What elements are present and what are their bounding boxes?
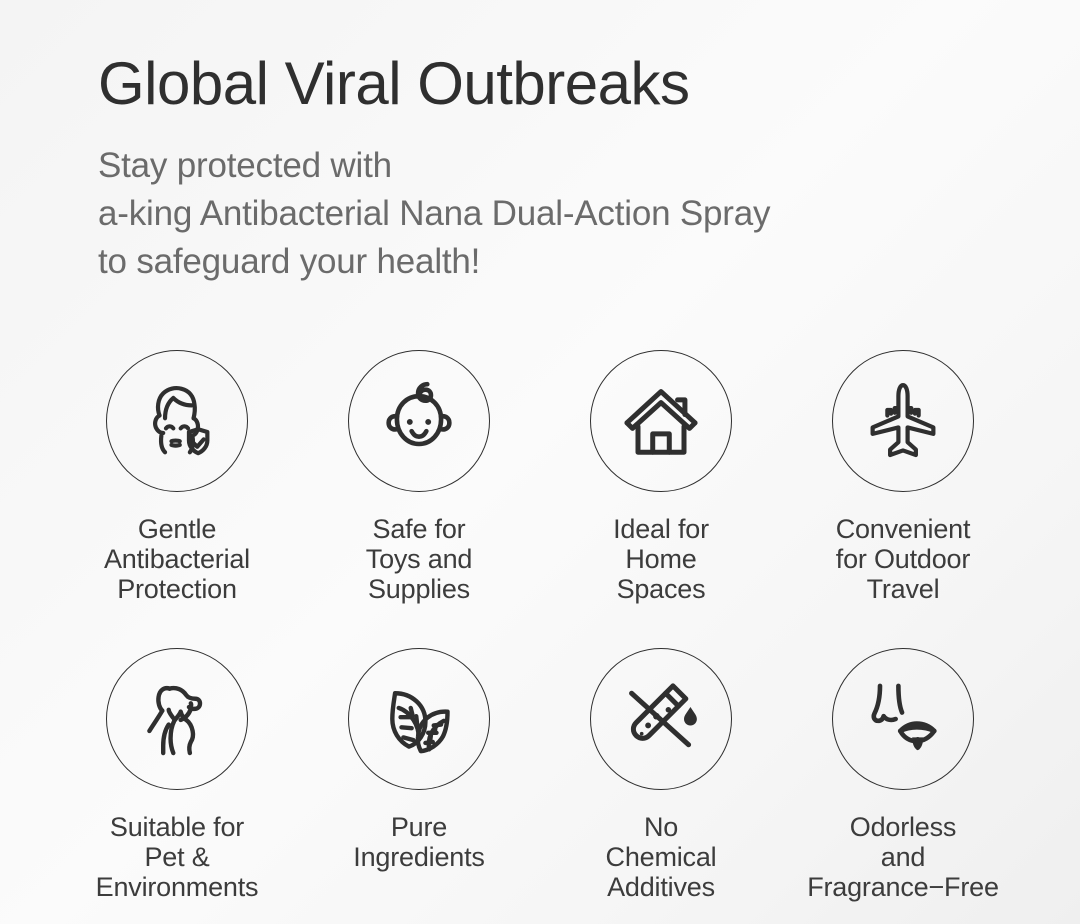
baby-face-icon (373, 375, 465, 467)
feature-caption: Safe for Toys and Supplies (366, 514, 472, 604)
feature-caption: Ideal for Home Spaces (613, 514, 709, 604)
house-icon (615, 375, 707, 467)
no-chemicals-test-tube-icon (615, 673, 707, 765)
feature-caption: No Chemical Additives (606, 812, 717, 902)
feature-item-suitable-for-pet-and-environments: Suitable for Pet & Environments (56, 648, 298, 902)
leaves-icon (373, 673, 465, 765)
feature-grid: Gentle Antibacterial Protection Safe for… (56, 350, 1024, 902)
feature-caption: Convenient for Outdoor Travel (836, 514, 971, 604)
feature-caption: Odorless and Fragrance−Free (807, 812, 999, 902)
subtitle-line-2: a-king Antibacterial Nana Dual-Action Sp… (98, 190, 998, 238)
feature-caption: Pure Ingredients (353, 812, 484, 872)
nose-mouth-icon (857, 673, 949, 765)
subtitle-block: Stay protected with a-king Antibacterial… (98, 142, 998, 286)
feature-item-convenient-for-outdoor-travel: Convenient for Outdoor Travel (782, 350, 1024, 604)
feature-item-pure-ingredients: Pure Ingredients (298, 648, 540, 902)
woman-shield-icon (131, 375, 223, 467)
page-title: Global Viral Outbreaks (98, 52, 998, 116)
feature-badge (348, 350, 490, 492)
feature-badge (348, 648, 490, 790)
airplane-icon (857, 375, 949, 467)
feature-badge (832, 648, 974, 790)
poster-header: Global Viral Outbreaks Stay protected wi… (98, 52, 998, 286)
feature-badge (832, 350, 974, 492)
feature-item-ideal-for-home-spaces: Ideal for Home Spaces (540, 350, 782, 604)
poster-canvas: Global Viral Outbreaks Stay protected wi… (0, 0, 1080, 924)
feature-badge (590, 350, 732, 492)
feature-item-no-chemical-additives: No Chemical Additives (540, 648, 782, 902)
feature-item-gentle-antibacterial-protection: Gentle Antibacterial Protection (56, 350, 298, 604)
subtitle-line-1: Stay protected with (98, 142, 998, 190)
feature-badge (106, 648, 248, 790)
feature-badge (106, 350, 248, 492)
dog-cat-icon (131, 673, 223, 765)
feature-item-odorless-and-fragrance-free: Odorless and Fragrance−Free (782, 648, 1024, 902)
feature-caption: Gentle Antibacterial Protection (104, 514, 250, 604)
subtitle-line-3: to safeguard your health! (98, 238, 998, 286)
feature-badge (590, 648, 732, 790)
feature-item-safe-for-toys-and-supplies: Safe for Toys and Supplies (298, 350, 540, 604)
feature-caption: Suitable for Pet & Environments (96, 812, 259, 902)
